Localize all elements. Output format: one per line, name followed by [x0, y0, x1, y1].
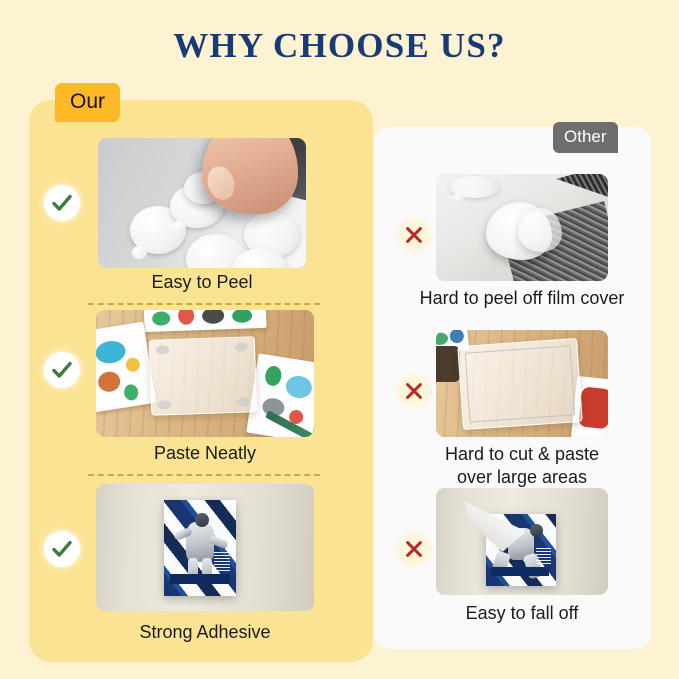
other-feature-caption-2-line2: over large areas [457, 467, 587, 487]
other-feature-image-3 [436, 488, 608, 595]
other-feature-image-2 [436, 330, 608, 437]
our-feature-image-1 [98, 138, 306, 268]
other-feature-caption-2: Hard to cut & paste over large areas [384, 443, 660, 488]
check-icon [44, 352, 80, 388]
other-feature-image-1 [436, 174, 608, 281]
our-feature-caption-2: Paste Neatly [96, 443, 314, 464]
page-title: WHY CHOOSE US? [0, 26, 679, 66]
cross-icon [395, 530, 433, 568]
divider-1 [88, 303, 320, 305]
other-badge: Other [553, 122, 618, 153]
our-feature-image-3 [96, 484, 314, 611]
check-icon [44, 531, 80, 567]
divider-2 [88, 474, 320, 476]
our-feature-caption-1: Easy to Peel [98, 272, 306, 293]
cross-icon [395, 216, 433, 254]
other-feature-caption-3: Easy to fall off [384, 603, 660, 624]
our-badge: Our [55, 83, 120, 122]
check-icon [44, 185, 80, 221]
cross-icon [395, 372, 433, 410]
comparison-infographic: WHY CHOOSE US? Easy to Peel [0, 0, 679, 679]
other-feature-caption-1: Hard to peel off film cover [384, 288, 660, 309]
other-feature-caption-2-line1: Hard to cut & paste [445, 444, 599, 464]
our-feature-caption-3: Strong Adhesive [96, 622, 314, 643]
our-feature-image-2 [96, 310, 314, 437]
